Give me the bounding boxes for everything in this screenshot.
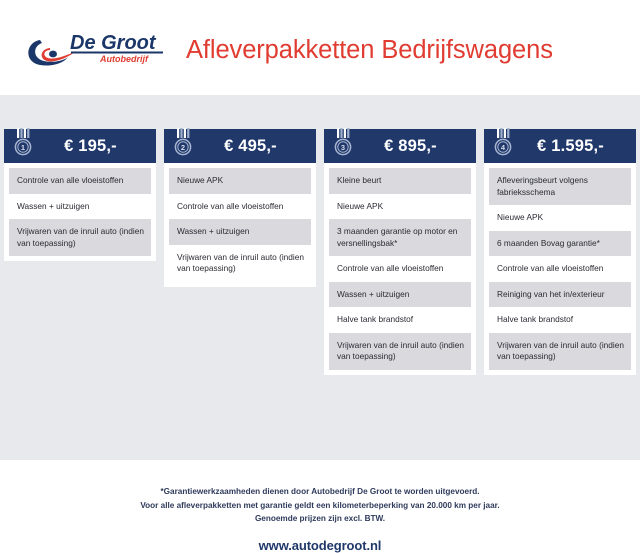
package-column: 3€ 895,-Kleine beurtNieuwe APK3 maanden …: [324, 129, 476, 375]
medal-icon: 4: [491, 128, 515, 158]
package-columns: 1€ 195,-Controle van alle vloeistoffenWa…: [0, 95, 640, 375]
package-feature-item: Controle van alle vloeistoffen: [329, 256, 471, 282]
package-feature-item: Halve tank brandstof: [489, 307, 631, 333]
package-price: € 195,-: [35, 137, 150, 156]
package-feature-card: Kleine beurtNieuwe APK3 maanden garantie…: [324, 163, 476, 375]
medal-icon: 1: [11, 128, 35, 158]
package-feature-item: Controle van alle vloeistoffen: [9, 168, 151, 194]
package-column: 2€ 495,-Nieuwe APKControle van alle vloe…: [164, 129, 316, 375]
package-feature-item: Nieuwe APK: [489, 205, 631, 231]
package-feature-item: Controle van alle vloeistoffen: [169, 194, 311, 220]
package-feature-card: Controle van alle vloeistoffenWassen + u…: [4, 163, 156, 261]
package-feature-item: Vrijwaren van de inruil auto (indien van…: [9, 219, 151, 256]
page-header: De Groot Autobedrijf Afleverpakketten Be…: [0, 0, 640, 95]
footnote-line: *Garantiewerkzaamheden dienen door Autob…: [0, 485, 640, 499]
package-feature-item: Afleveringsbeurt volgens fabrieksschema: [489, 168, 631, 205]
package-feature-item: Reiniging van het in/exterieur: [489, 282, 631, 308]
bottom-margin: [0, 460, 640, 480]
package-feature-item: Vrijwaren van de inruil auto (indien van…: [329, 333, 471, 370]
de-groot-logo-icon: De Groot Autobedrijf: [24, 26, 174, 74]
package-feature-card: Afleveringsbeurt volgens fabrieksschemaN…: [484, 163, 636, 375]
page-footer: *Garantiewerkzaamheden dienen door Autob…: [0, 485, 640, 553]
footnote-line: Voor alle afleverpakketten met garantie …: [0, 499, 640, 513]
website-link[interactable]: www.autodegroot.nl: [0, 538, 640, 553]
package-feature-item: Wassen + uitzuigen: [329, 282, 471, 308]
brand-logo[interactable]: De Groot Autobedrijf: [24, 26, 174, 74]
package-feature-item: Vrijwaren van de inruil auto (indien van…: [169, 245, 311, 282]
package-feature-item: 3 maanden garantie op motor en versnelli…: [329, 219, 471, 256]
svg-text:1: 1: [21, 143, 25, 152]
svg-text:3: 3: [341, 143, 345, 152]
package-column: 1€ 195,-Controle van alle vloeistoffenWa…: [4, 129, 156, 375]
package-feature-item: Wassen + uitzuigen: [169, 219, 311, 245]
package-feature-item: Controle van alle vloeistoffen: [489, 256, 631, 282]
footnote-line: Genoemde prijzen zijn excl. BTW.: [0, 512, 640, 526]
page-title: Afleverpakketten Bedrijfswagens: [186, 34, 553, 66]
package-price: € 495,-: [195, 137, 310, 156]
package-feature-card: Nieuwe APKControle van alle vloeistoffen…: [164, 163, 316, 287]
package-feature-item: Vrijwaren van de inruil auto (indien van…: [489, 333, 631, 370]
package-column: 4€ 1.595,-Afleveringsbeurt volgens fabri…: [484, 129, 636, 375]
package-feature-item: Wassen + uitzuigen: [9, 194, 151, 220]
package-feature-item: Nieuwe APK: [169, 168, 311, 194]
content-band: 1€ 195,-Controle van alle vloeistoffenWa…: [0, 95, 640, 460]
package-header: 1€ 195,-: [4, 129, 156, 163]
medal-icon: 3: [331, 128, 355, 158]
package-header: 4€ 1.595,-: [484, 129, 636, 163]
package-header: 3€ 895,-: [324, 129, 476, 163]
package-feature-item: Nieuwe APK: [329, 194, 471, 220]
package-price: € 1.595,-: [515, 137, 630, 156]
package-feature-item: Halve tank brandstof: [329, 307, 471, 333]
svg-text:2: 2: [181, 143, 185, 152]
svg-text:De Groot: De Groot: [70, 32, 157, 54]
package-feature-item: Kleine beurt: [329, 168, 471, 194]
package-header: 2€ 495,-: [164, 129, 316, 163]
svg-text:Autobedrijf: Autobedrijf: [99, 54, 149, 64]
package-feature-item: 6 maanden Bovag garantie*: [489, 231, 631, 257]
package-price: € 895,-: [355, 137, 470, 156]
svg-text:4: 4: [501, 143, 506, 152]
medal-icon: 2: [171, 128, 195, 158]
pricing-poster: De Groot Autobedrijf Afleverpakketten Be…: [0, 0, 640, 480]
